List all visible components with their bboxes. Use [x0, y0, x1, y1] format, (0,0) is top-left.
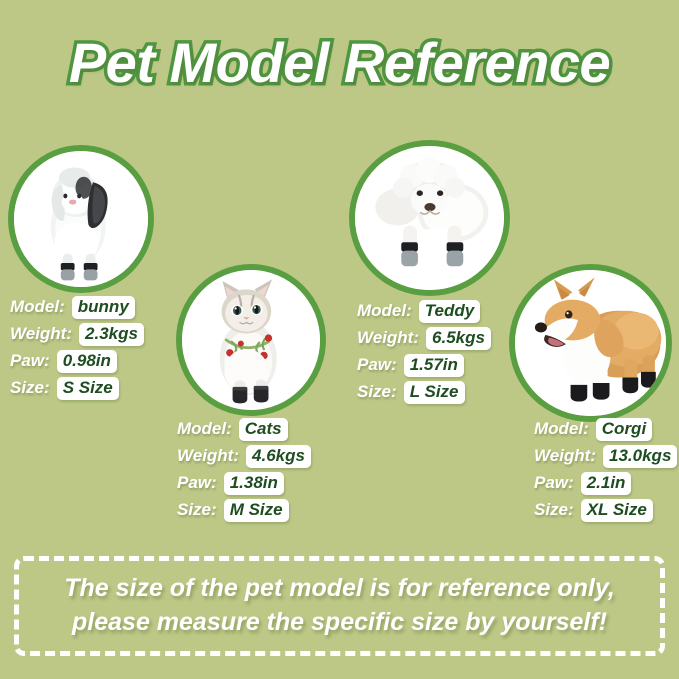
pet-info-teddy: Model: Teddy Weight: 6.5kgs Paw: 1.57in …: [357, 300, 491, 408]
label-paw: Paw:: [534, 473, 574, 493]
info-row-model: Model: Corgi: [534, 418, 677, 441]
value-paw: 1.57in: [404, 354, 464, 377]
label-size: Size:: [357, 382, 397, 402]
info-row-paw: Paw: 0.98in: [10, 350, 144, 373]
value-paw: 1.38in: [224, 472, 284, 495]
value-size: L Size: [404, 381, 465, 404]
pet-info-cat: Model: Cats Weight: 4.6kgs Paw: 1.38in S…: [177, 418, 311, 526]
value-weight: 13.0kgs: [603, 445, 677, 468]
label-weight: Weight:: [177, 446, 239, 466]
pet-photo-cat: [176, 264, 326, 416]
label-weight: Weight:: [357, 328, 419, 348]
value-paw: 0.98in: [57, 350, 117, 373]
disclaimer-line-1: The size of the pet model is for referen…: [64, 572, 615, 606]
label-paw: Paw:: [10, 351, 50, 371]
label-model: Model:: [177, 419, 232, 439]
label-paw: Paw:: [357, 355, 397, 375]
info-row-size: Size: S Size: [10, 377, 144, 400]
label-size: Size:: [10, 378, 50, 398]
value-model: Teddy: [419, 300, 480, 323]
info-row-paw: Paw: 2.1in: [534, 472, 677, 495]
pet-photo-teddy: [349, 140, 510, 296]
value-weight: 4.6kgs: [246, 445, 311, 468]
info-row-weight: Weight: 4.6kgs: [177, 445, 311, 468]
info-row-weight: Weight: 13.0kgs: [534, 445, 677, 468]
infographic-page: Pet Model Reference: [0, 0, 679, 679]
label-model: Model:: [534, 419, 589, 439]
teddy-illustration: [355, 146, 504, 290]
value-size: S Size: [57, 377, 119, 400]
page-title: Pet Model Reference: [0, 34, 679, 93]
bunny-illustration: [14, 151, 148, 287]
cat-illustration: [182, 270, 320, 410]
info-row-weight: Weight: 2.3kgs: [10, 323, 144, 346]
info-row-weight: Weight: 6.5kgs: [357, 327, 491, 350]
corgi-illustration: [515, 270, 666, 416]
info-row-model: Model: Teddy: [357, 300, 491, 323]
pet-photo-corgi: [509, 264, 672, 422]
disclaimer-box: The size of the pet model is for referen…: [14, 556, 665, 656]
label-paw: Paw:: [177, 473, 217, 493]
label-model: Model:: [10, 297, 65, 317]
value-weight: 2.3kgs: [79, 323, 144, 346]
value-model: bunny: [72, 296, 135, 319]
pet-info-corgi: Model: Corgi Weight: 13.0kgs Paw: 2.1in …: [534, 418, 677, 526]
info-row-paw: Paw: 1.38in: [177, 472, 311, 495]
value-size: M Size: [224, 499, 289, 522]
value-weight: 6.5kgs: [426, 327, 491, 350]
pet-photo-bunny: [8, 145, 154, 293]
label-weight: Weight:: [534, 446, 596, 466]
info-row-paw: Paw: 1.57in: [357, 354, 491, 377]
info-row-size: Size: XL Size: [534, 499, 677, 522]
info-row-model: Model: bunny: [10, 296, 144, 319]
label-size: Size:: [177, 500, 217, 520]
label-size: Size:: [534, 500, 574, 520]
disclaimer-line-2: please measure the specific size by your…: [72, 606, 607, 640]
info-row-size: Size: M Size: [177, 499, 311, 522]
label-weight: Weight:: [10, 324, 72, 344]
info-row-model: Model: Cats: [177, 418, 311, 441]
pet-info-bunny: Model: bunny Weight: 2.3kgs Paw: 0.98in …: [10, 296, 144, 404]
label-model: Model:: [357, 301, 412, 321]
value-paw: 2.1in: [581, 472, 632, 495]
value-model: Corgi: [596, 418, 652, 441]
info-row-size: Size: L Size: [357, 381, 491, 404]
value-model: Cats: [239, 418, 288, 441]
value-size: XL Size: [581, 499, 653, 522]
